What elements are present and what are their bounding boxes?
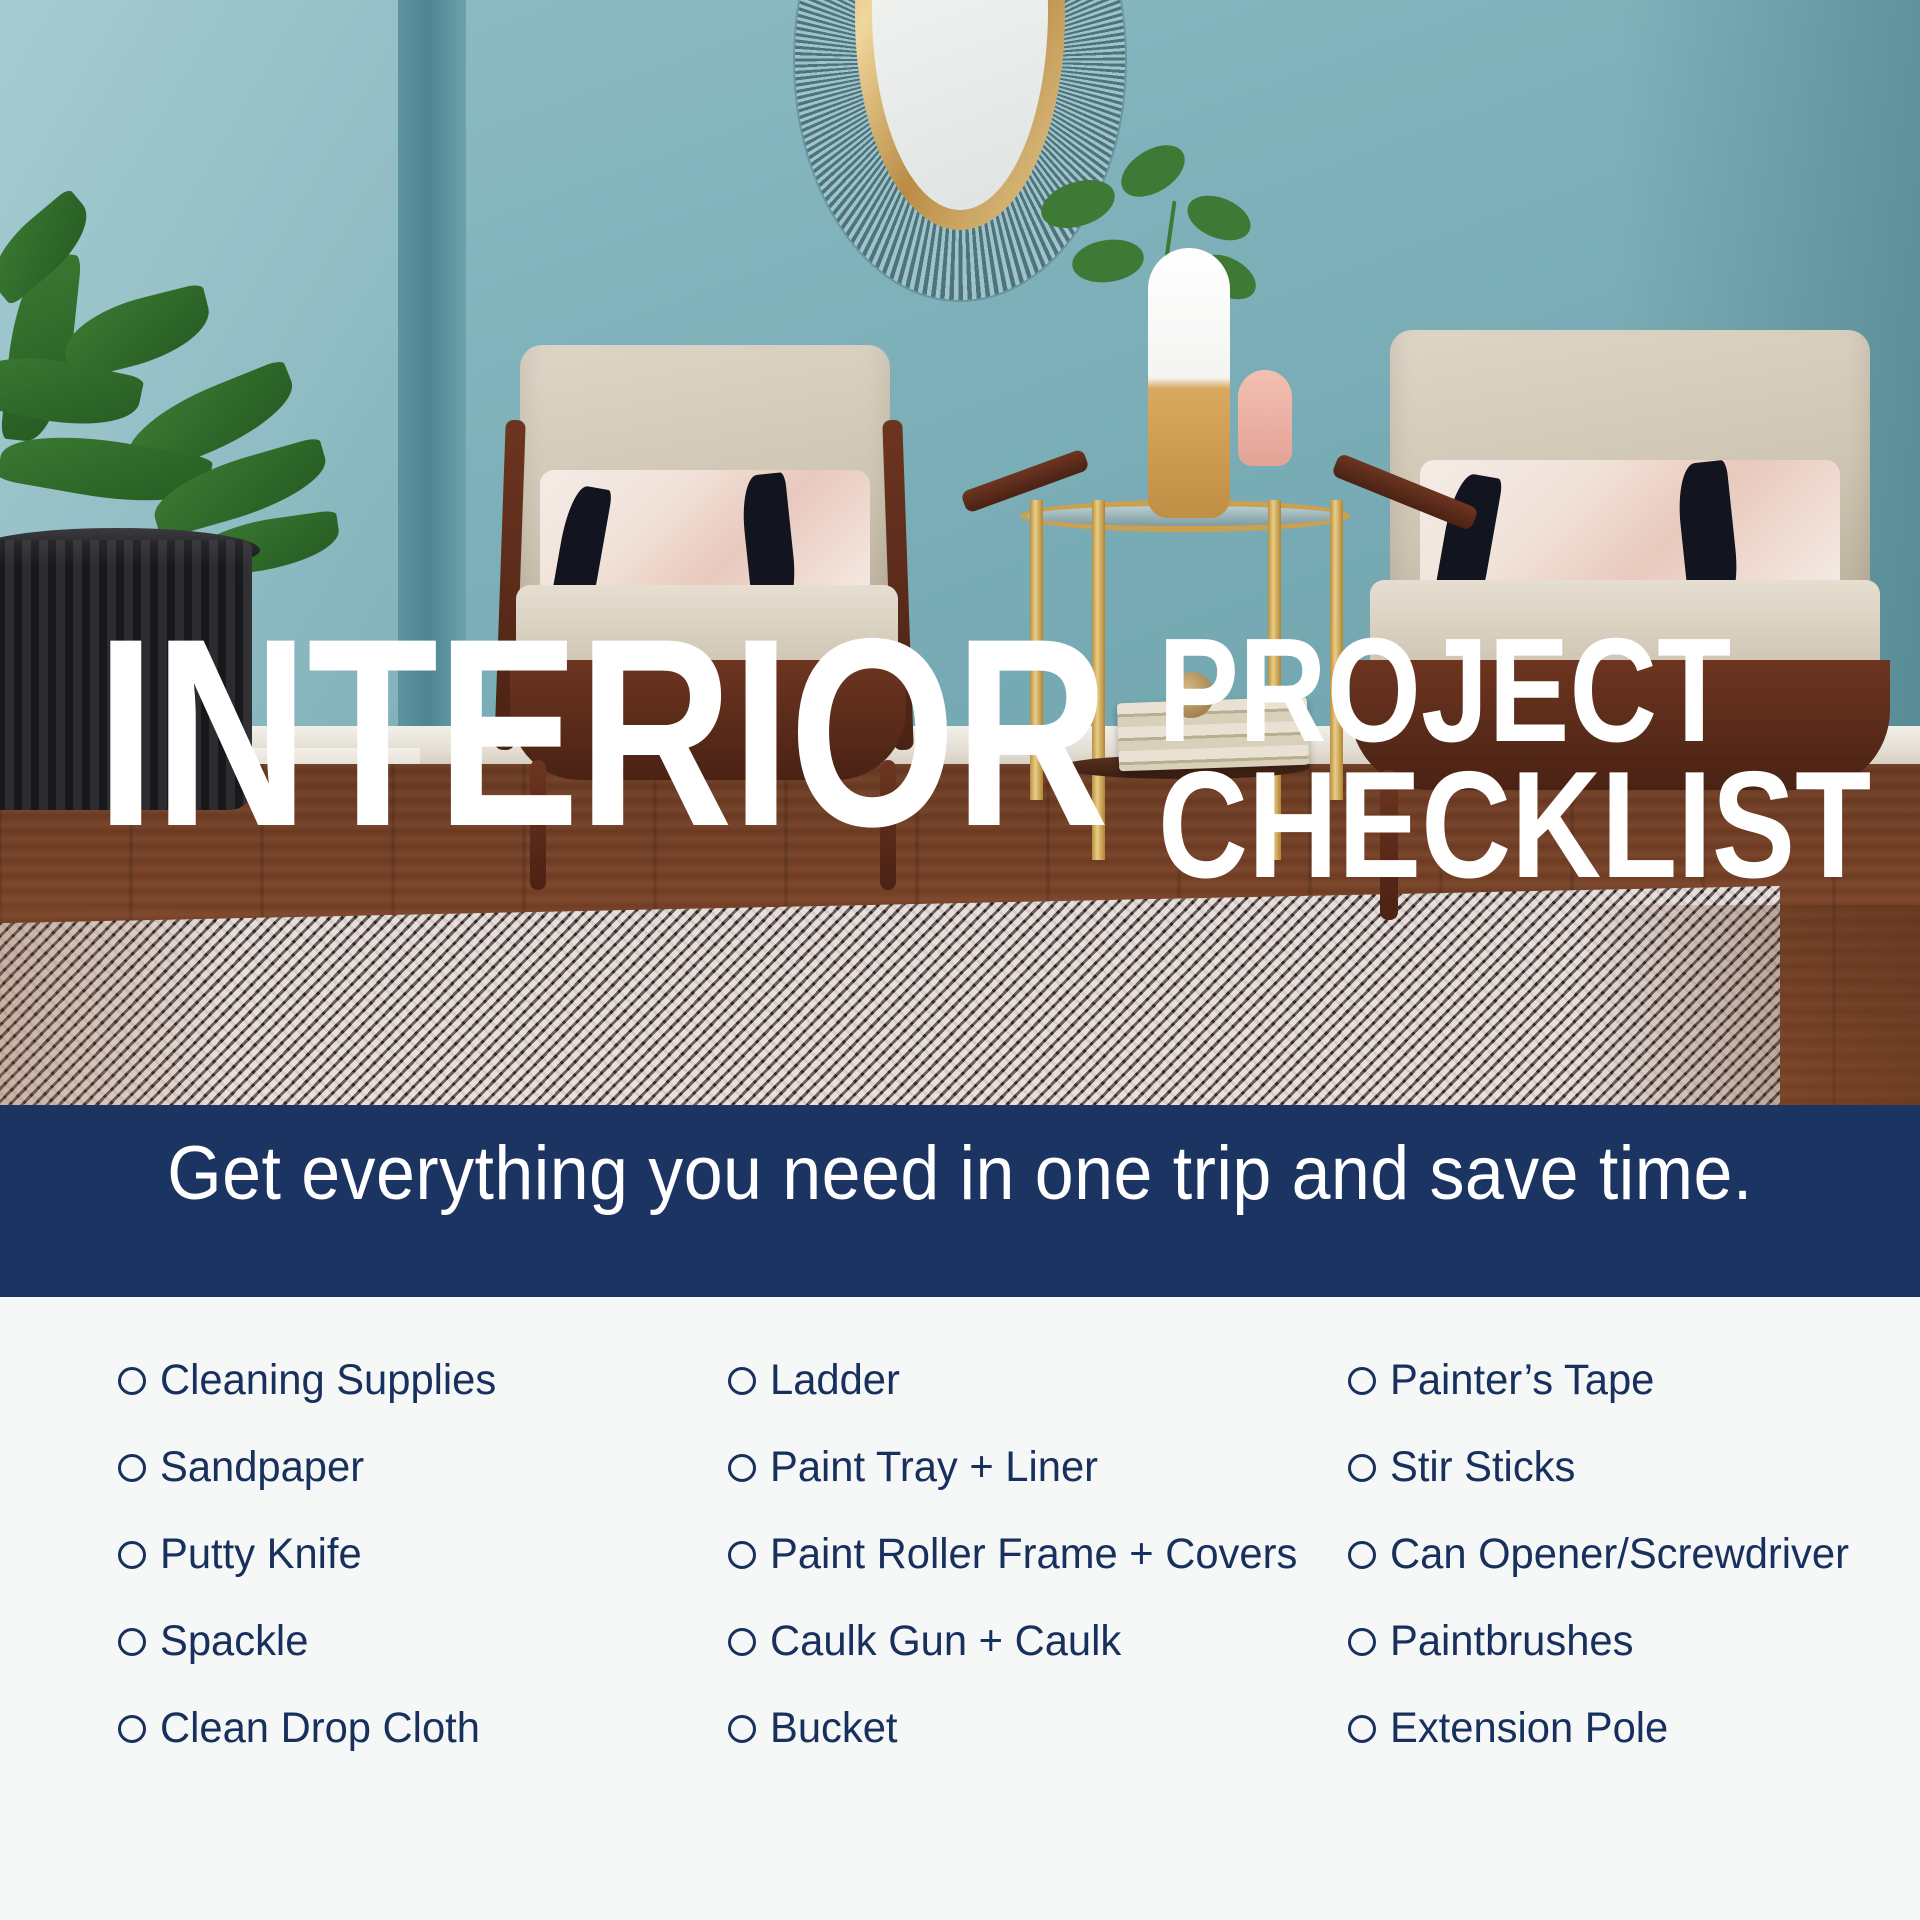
checklist-item[interactable]: Can Opener/Screwdriver <box>1348 1511 1838 1598</box>
checklist-item-label: Ladder <box>770 1356 900 1405</box>
checklist-column-2: Ladder Paint Tray + Liner Paint Roller F… <box>728 1337 1348 1772</box>
checklist-column-1: Cleaning Supplies Sandpaper Putty Knife … <box>118 1337 728 1772</box>
side-table-leg <box>1268 500 1281 860</box>
chair-leg <box>1380 770 1398 920</box>
subtitle-text: Get everything you need in one trip and … <box>77 1130 1843 1217</box>
circle-outline-icon[interactable] <box>1348 1628 1376 1656</box>
checklist-item-label: Paint Roller Frame + Covers <box>770 1530 1297 1579</box>
chair-wood-apron <box>1350 660 1890 790</box>
circle-outline-icon[interactable] <box>118 1628 146 1656</box>
checklist-item-label: Stir Sticks <box>1390 1443 1575 1492</box>
checklist-item[interactable]: Sandpaper <box>118 1424 728 1511</box>
checklist-item-label: Putty Knife <box>160 1530 362 1579</box>
checklist-item[interactable]: Ladder <box>728 1337 1348 1424</box>
checklist-item-label: Spackle <box>160 1617 308 1666</box>
checklist-item-label: Painter’s Tape <box>1390 1356 1654 1405</box>
wall-corner-edge <box>398 0 466 790</box>
circle-outline-icon[interactable] <box>728 1454 756 1482</box>
checklist-item-label: Cleaning Supplies <box>160 1356 496 1405</box>
checklist-section: Cleaning Supplies Sandpaper Putty Knife … <box>0 1297 1920 1920</box>
circle-outline-icon[interactable] <box>728 1628 756 1656</box>
checklist-item[interactable]: Paintbrushes <box>1348 1598 1838 1685</box>
chair-seat-cushion <box>1370 580 1880 672</box>
checklist-item[interactable]: Caulk Gun + Caulk <box>728 1598 1348 1685</box>
circle-outline-icon[interactable] <box>1348 1715 1376 1743</box>
checklist-item-label: Can Opener/Screwdriver <box>1390 1530 1849 1579</box>
checklist-item[interactable]: Stir Sticks <box>1348 1424 1838 1511</box>
chair-leg <box>530 760 546 890</box>
checklist-item-label: Paintbrushes <box>1390 1617 1633 1666</box>
checklist-item-label: Paint Tray + Liner <box>770 1443 1098 1492</box>
stacked-books <box>1117 697 1309 772</box>
checklist-item-label: Bucket <box>770 1704 898 1753</box>
checklist-item-label: Caulk Gun + Caulk <box>770 1617 1121 1666</box>
checklist-columns: Cleaning Supplies Sandpaper Putty Knife … <box>118 1337 1838 1772</box>
checklist-item-label: Sandpaper <box>160 1443 364 1492</box>
checklist-item[interactable]: Clean Drop Cloth <box>118 1685 728 1772</box>
chair-wood-apron <box>510 660 906 780</box>
checklist-item[interactable]: Paint Roller Frame + Covers <box>728 1511 1348 1598</box>
chair-leg <box>880 760 896 890</box>
poster: INTERIOR PROJECT CHECKLIST Get everythin… <box>0 0 1920 1920</box>
checklist-column-3: Painter’s Tape Stir Sticks Can Opener/Sc… <box>1348 1337 1838 1772</box>
checklist-item[interactable]: Cleaning Supplies <box>118 1337 728 1424</box>
checklist-item[interactable]: Putty Knife <box>118 1511 728 1598</box>
circle-outline-icon[interactable] <box>728 1367 756 1395</box>
side-table-leg <box>1030 500 1043 800</box>
checklist-item[interactable]: Bucket <box>728 1685 1348 1772</box>
circle-outline-icon[interactable] <box>118 1715 146 1743</box>
tall-vase <box>1148 248 1230 518</box>
chair-seat-cushion <box>516 585 898 671</box>
circle-outline-icon[interactable] <box>728 1541 756 1569</box>
checklist-item-label: Clean Drop Cloth <box>160 1704 480 1753</box>
circle-outline-icon[interactable] <box>118 1367 146 1395</box>
circle-outline-icon[interactable] <box>118 1454 146 1482</box>
circle-outline-icon[interactable] <box>1348 1541 1376 1569</box>
checklist-item[interactable]: Spackle <box>118 1598 728 1685</box>
side-table-leg <box>1330 500 1343 800</box>
black-planter <box>0 540 252 810</box>
circle-outline-icon[interactable] <box>1348 1454 1376 1482</box>
circle-outline-icon[interactable] <box>728 1715 756 1743</box>
circle-outline-icon[interactable] <box>1348 1367 1376 1395</box>
circle-outline-icon[interactable] <box>118 1541 146 1569</box>
decorative-orb <box>1168 672 1214 718</box>
checklist-item[interactable]: Paint Tray + Liner <box>728 1424 1348 1511</box>
checklist-item[interactable]: Painter’s Tape <box>1348 1337 1838 1424</box>
checklist-item[interactable]: Extension Pole <box>1348 1685 1838 1772</box>
small-pink-vase <box>1238 370 1292 466</box>
checklist-item-label: Extension Pole <box>1390 1704 1668 1753</box>
side-table-leg <box>1092 500 1105 860</box>
